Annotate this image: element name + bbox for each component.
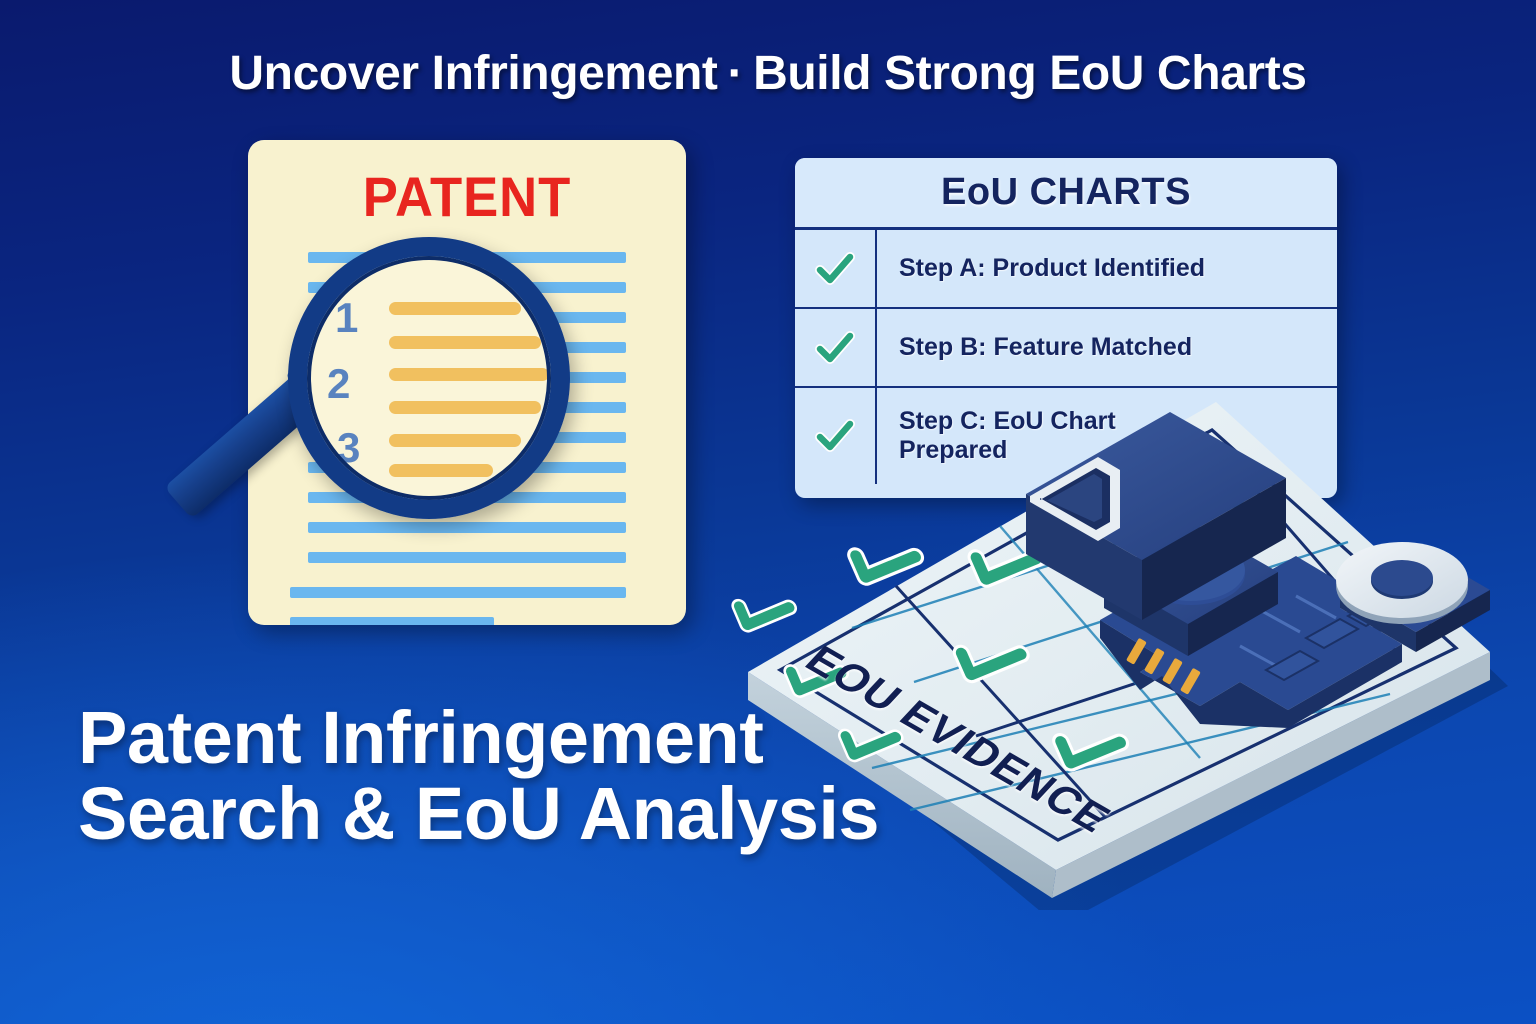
doc-text-line (308, 462, 626, 473)
page-title-line1: Patent Infringement (78, 696, 763, 779)
eou-row-label: Step A: Product Identified (899, 254, 1205, 283)
headline: Uncover Infringement·Build Strong EoU Ch… (0, 46, 1536, 101)
poster-canvas: Uncover Infringement·Build Strong EoU Ch… (0, 0, 1536, 1024)
doc-text-line (290, 587, 626, 598)
page-title-line2: Search & EoU Analysis (78, 776, 978, 852)
eou-label-cell: Step A: Product Identified (877, 230, 1337, 307)
headline-separator: · (718, 47, 754, 100)
doc-text-line (308, 432, 626, 443)
check-icon (815, 249, 855, 289)
check-icon (815, 328, 855, 368)
doc-text-line (308, 312, 626, 323)
page-title: Patent Infringement Search & EoU Analysi… (78, 700, 978, 852)
doc-text-line (308, 282, 626, 293)
eou-charts-header: EoU CHARTS (795, 158, 1337, 230)
doc-text-line (308, 552, 626, 563)
eou-charts-title: EoU CHARTS (941, 171, 1191, 214)
patent-document-title: PATENT (261, 164, 673, 229)
doc-text-line (290, 617, 494, 625)
eou-row[interactable]: Step A: Product Identified (795, 230, 1337, 309)
doc-text-line (308, 522, 626, 533)
headline-part1: Uncover Infringement (229, 47, 717, 100)
doc-text-line (308, 252, 626, 263)
doc-text-line (308, 372, 626, 383)
headline-part2: Build Strong EoU Charts (753, 47, 1306, 100)
doc-text-line (308, 342, 626, 353)
eou-check-cell (795, 230, 877, 307)
doc-text-line (308, 492, 626, 503)
patent-document-card: PATENT (248, 140, 686, 625)
doc-text-line (308, 402, 626, 413)
eou-row-label: Step B: Feature Matched (899, 333, 1192, 362)
